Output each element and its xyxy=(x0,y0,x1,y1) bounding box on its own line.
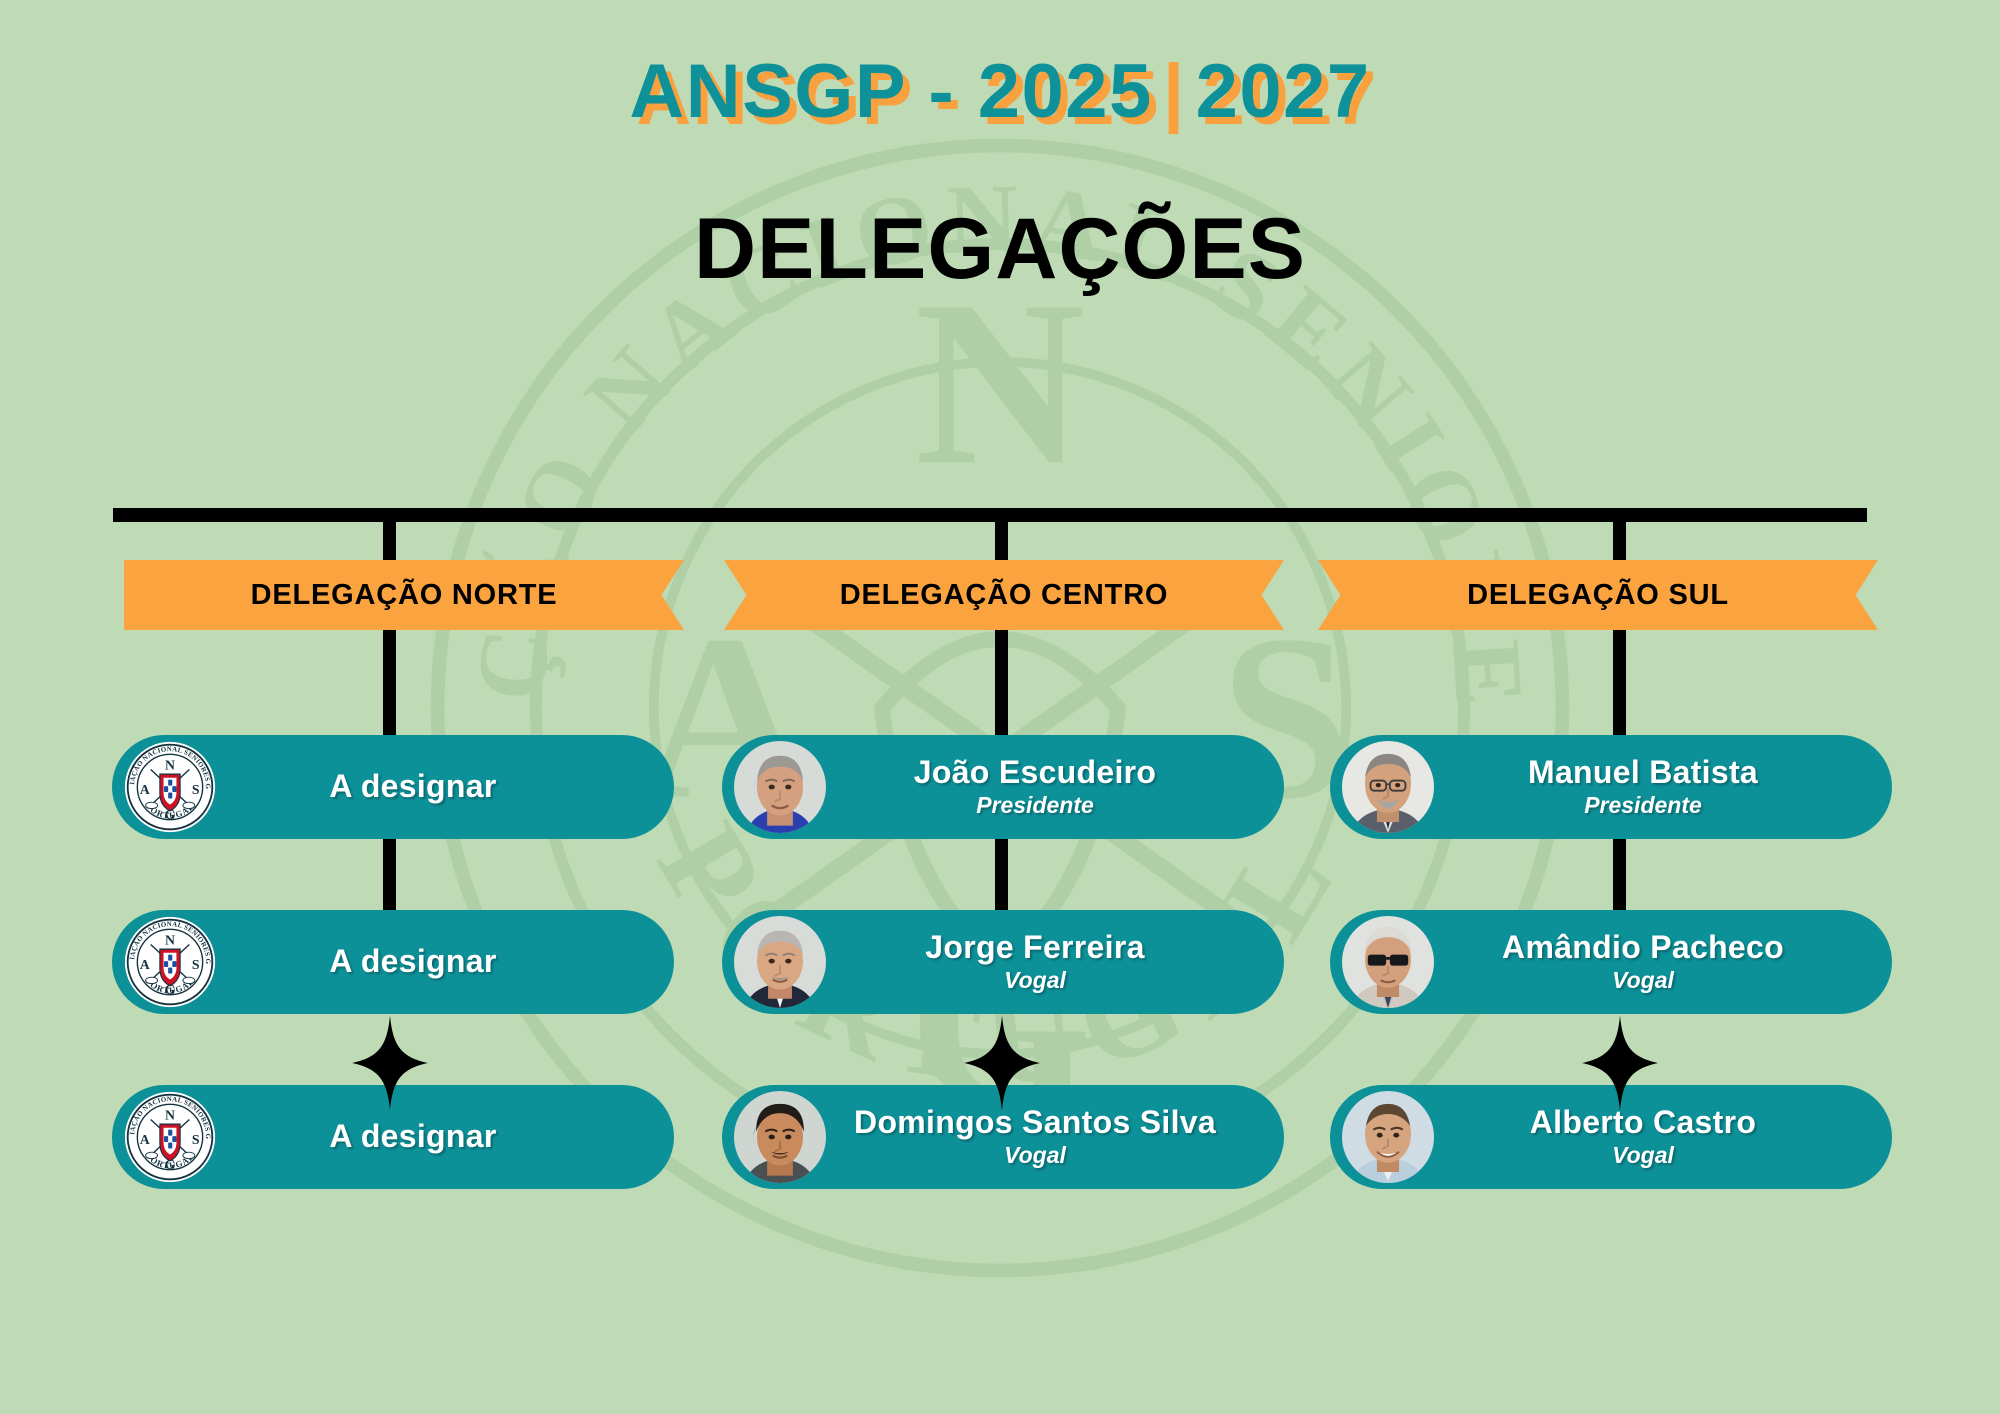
stem-norte-1 xyxy=(383,630,396,740)
banner-delegacao-centro[interactable]: DELEGAÇÃO CENTRO xyxy=(724,560,1284,630)
svg-text:N: N xyxy=(165,758,175,773)
member-name: Jorge Ferreira xyxy=(826,931,1244,965)
avatar-photo-domingos-santos-silva xyxy=(734,1091,826,1183)
member-name: A designar xyxy=(216,770,610,804)
member-card-centro-2[interactable]: Jorge Ferreira Vogal xyxy=(722,910,1284,1014)
title-suffix: 2027 xyxy=(1196,49,1371,134)
member-role: Presidente xyxy=(1434,793,1852,817)
member-name: João Escudeiro xyxy=(826,756,1244,790)
member-card-centro-1[interactable]: João Escudeiro Presidente xyxy=(722,735,1284,839)
banner-label-centro: DELEGAÇÃO CENTRO xyxy=(840,579,1169,612)
member-name: Domingos Santos Silva xyxy=(826,1106,1244,1140)
member-card-sul-2[interactable]: Amândio Pacheco Vogal xyxy=(1330,910,1892,1014)
svg-text:S: S xyxy=(192,782,200,797)
svg-text:A: A xyxy=(140,782,150,797)
member-role: Vogal xyxy=(1434,968,1852,992)
svg-text:S: S xyxy=(192,1132,200,1147)
avatar-photo-jorge-ferreira xyxy=(734,916,826,1008)
avatar-ansgp-logo-icon: ASSOCIAÇÃO NACIONAL SENIORES GOLFE PORTU… xyxy=(124,916,216,1008)
sparkle-icon-sul xyxy=(1582,1015,1658,1111)
member-name: Alberto Castro xyxy=(1434,1106,1852,1140)
banner-delegacao-sul[interactable]: DELEGAÇÃO SUL xyxy=(1318,560,1878,630)
stem-centro-2 xyxy=(995,830,1008,920)
page-title-main: ANSGP - 2025|2027 xyxy=(0,48,2000,135)
avatar-photo-alberto-castro xyxy=(1342,1091,1434,1183)
title-prefix: ANSGP - 2025 xyxy=(629,49,1153,134)
stem-sul-2 xyxy=(1613,830,1626,920)
banner-delegacao-norte[interactable]: DELEGAÇÃO NORTE xyxy=(124,560,684,630)
member-role: Vogal xyxy=(1434,1143,1852,1167)
svg-text:A: A xyxy=(140,1132,150,1147)
avatar-photo-manuel-batista xyxy=(1342,741,1434,833)
member-name: A designar xyxy=(216,1120,610,1154)
title-separator: | xyxy=(1163,49,1186,134)
member-card-norte-1[interactable]: ASSOCIAÇÃO NACIONAL SENIORES GOLFE PORTU… xyxy=(112,735,674,839)
stem-norte-2 xyxy=(383,830,396,920)
member-name: A designar xyxy=(216,945,610,979)
avatar-ansgp-logo-icon: ASSOCIAÇÃO NACIONAL SENIORES GOLFE PORTU… xyxy=(124,1091,216,1183)
svg-text:N: N xyxy=(165,933,175,948)
banner-label-sul: DELEGAÇÃO SUL xyxy=(1467,579,1729,612)
avatar-photo-joao-escudeiro xyxy=(734,741,826,833)
member-name: Amândio Pacheco xyxy=(1434,931,1852,965)
sparkle-icon-centro xyxy=(964,1015,1040,1111)
member-card-sul-1[interactable]: Manuel Batista Presidente xyxy=(1330,735,1892,839)
stem-centro-1 xyxy=(995,630,1008,740)
svg-text:G: G xyxy=(165,982,176,997)
org-chart-horizontal-connector xyxy=(113,508,1867,522)
avatar-ansgp-logo-icon: ASSOCIAÇÃO NACIONAL SENIORES GOLFE PORTU… xyxy=(124,741,216,833)
sparkle-icon-norte xyxy=(352,1015,428,1111)
svg-text:G: G xyxy=(165,1157,176,1172)
svg-text:G: G xyxy=(165,807,176,822)
svg-text:N: N xyxy=(165,1108,175,1123)
member-role: Presidente xyxy=(826,793,1244,817)
banner-label-norte: DELEGAÇÃO NORTE xyxy=(251,579,558,612)
page-title-sub: DELEGAÇÕES xyxy=(0,200,2000,299)
member-card-norte-2[interactable]: ASSOCIAÇÃO NACIONAL SENIORES GOLFE PORTU… xyxy=(112,910,674,1014)
svg-text:A: A xyxy=(140,957,150,972)
avatar-photo-amandio-pacheco xyxy=(1342,916,1434,1008)
member-name: Manuel Batista xyxy=(1434,756,1852,790)
stem-sul-1 xyxy=(1613,630,1626,740)
member-role: Vogal xyxy=(826,1143,1244,1167)
member-role: Vogal xyxy=(826,968,1244,992)
svg-text:S: S xyxy=(192,957,200,972)
